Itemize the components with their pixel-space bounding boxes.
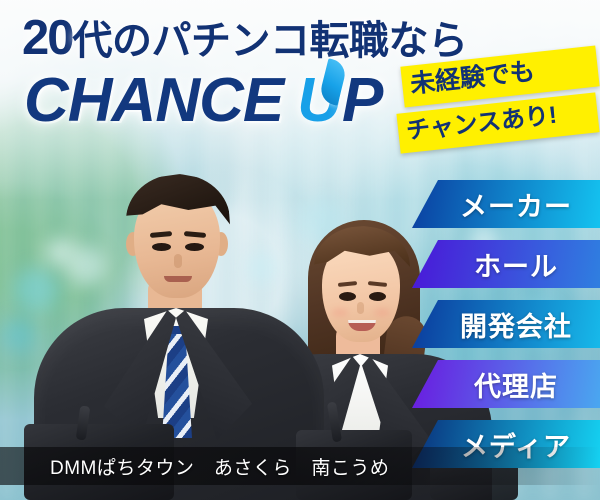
woman-eye-left <box>339 292 356 301</box>
woman-eye-right <box>369 292 386 301</box>
category-button-agency[interactable]: 代理店 <box>412 360 600 408</box>
logo-word-chance: CHANCE <box>24 66 283 135</box>
banner-ad[interactable]: 20代のパチンコ転職なら CHANCEUP 未経験でも チャンスあり! メーカー… <box>0 0 600 500</box>
logo-letter-p: P <box>342 66 383 135</box>
category-label: ホール <box>474 245 558 284</box>
man-eye-left <box>152 243 171 251</box>
man-eye-right <box>185 243 204 251</box>
category-button-hall[interactable]: ホール <box>412 240 600 288</box>
woman-nose <box>357 302 364 314</box>
credit-bar: DMMぱちタウン あさくら 南こうめ <box>0 447 600 485</box>
logo-up-wrap: UP <box>297 70 383 132</box>
status-badge: 未経験でも チャンスあり! <box>398 56 598 143</box>
man-nose <box>174 254 182 268</box>
woman-cheek-left <box>332 308 348 317</box>
man-smile <box>164 276 192 282</box>
category-button-list: メーカー ホール 開発会社 代理店 メディア <box>412 180 600 480</box>
woman-cheek-right <box>374 308 390 317</box>
category-label: 代理店 <box>474 365 558 404</box>
category-button-developer[interactable]: 開発会社 <box>412 300 600 348</box>
category-button-maker[interactable]: メーカー <box>412 180 600 228</box>
credit-text: DMMぱちタウン あさくら 南こうめ <box>50 453 389 480</box>
chance-up-logo: CHANCEUP <box>24 70 383 132</box>
bokeh-light <box>2 318 36 352</box>
category-label: メーカー <box>460 185 572 224</box>
category-label: 開発会社 <box>460 305 572 344</box>
headline-number: 20 <box>22 11 73 65</box>
